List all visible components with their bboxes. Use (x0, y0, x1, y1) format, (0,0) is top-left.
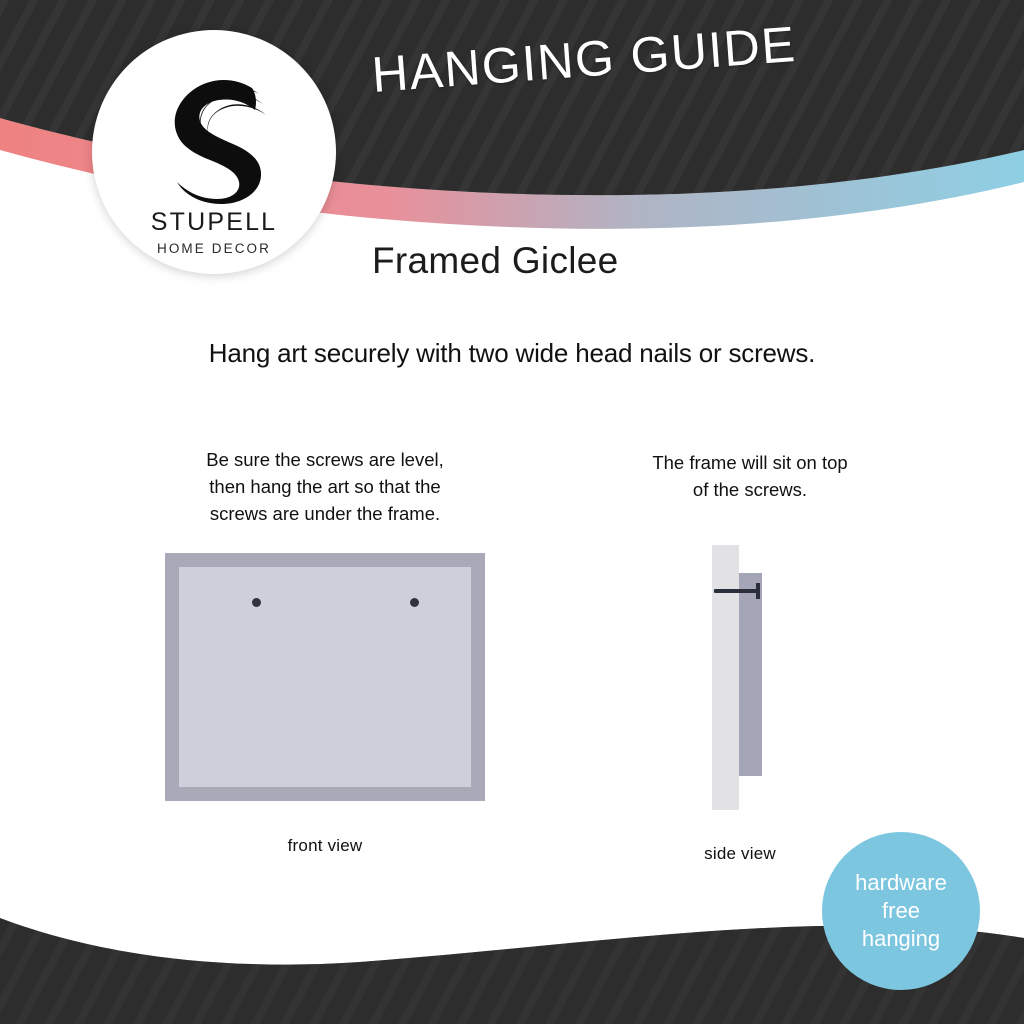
front-view-label: front view (165, 836, 485, 856)
front-caption-line-3: screws are under the frame. (160, 501, 490, 528)
front-caption-line-2: then hang the art so that the (160, 474, 490, 501)
front-caption-line-1: Be sure the screws are level, (160, 447, 490, 474)
main-instruction-text: Hang art securely with two wide head nai… (0, 338, 1024, 369)
side-caption-line-2: of the screws. (605, 477, 895, 504)
side-view-frame-diagram (712, 545, 802, 810)
logo-subwordmark: HOME DECOR (157, 242, 271, 256)
brand-logo-badge: STUPELL HOME DECOR (92, 30, 336, 274)
screw-dot-right-icon (410, 598, 419, 607)
front-view-frame-diagram (165, 553, 485, 801)
screw-dot-left-icon (252, 598, 261, 607)
stupell-s-swoosh-icon (155, 72, 273, 204)
side-view-label: side view (660, 844, 820, 864)
page-title: HANGING GUIDE (370, 15, 798, 104)
front-view-frame-panel (179, 567, 471, 787)
side-view-frame (739, 573, 762, 776)
badge-line-3: hanging (862, 925, 940, 953)
hanging-guide-infographic: HANGING GUIDE STUPELL HOME DECOR Framed … (0, 0, 1024, 1024)
badge-line-1: hardware (855, 869, 947, 897)
hardware-free-hanging-badge: hardware free hanging (822, 832, 980, 990)
nail-shaft-icon (714, 589, 760, 593)
front-view-caption: Be sure the screws are level, then hang … (160, 447, 490, 527)
nail-head-icon (756, 583, 760, 599)
side-view-wall (712, 545, 739, 810)
side-view-caption: The frame will sit on top of the screws. (605, 450, 895, 504)
side-caption-line-1: The frame will sit on top (605, 450, 895, 477)
product-type-heading: Framed Giclee (372, 240, 619, 282)
logo-wordmark: STUPELL (151, 210, 278, 235)
badge-line-2: free (882, 897, 920, 925)
